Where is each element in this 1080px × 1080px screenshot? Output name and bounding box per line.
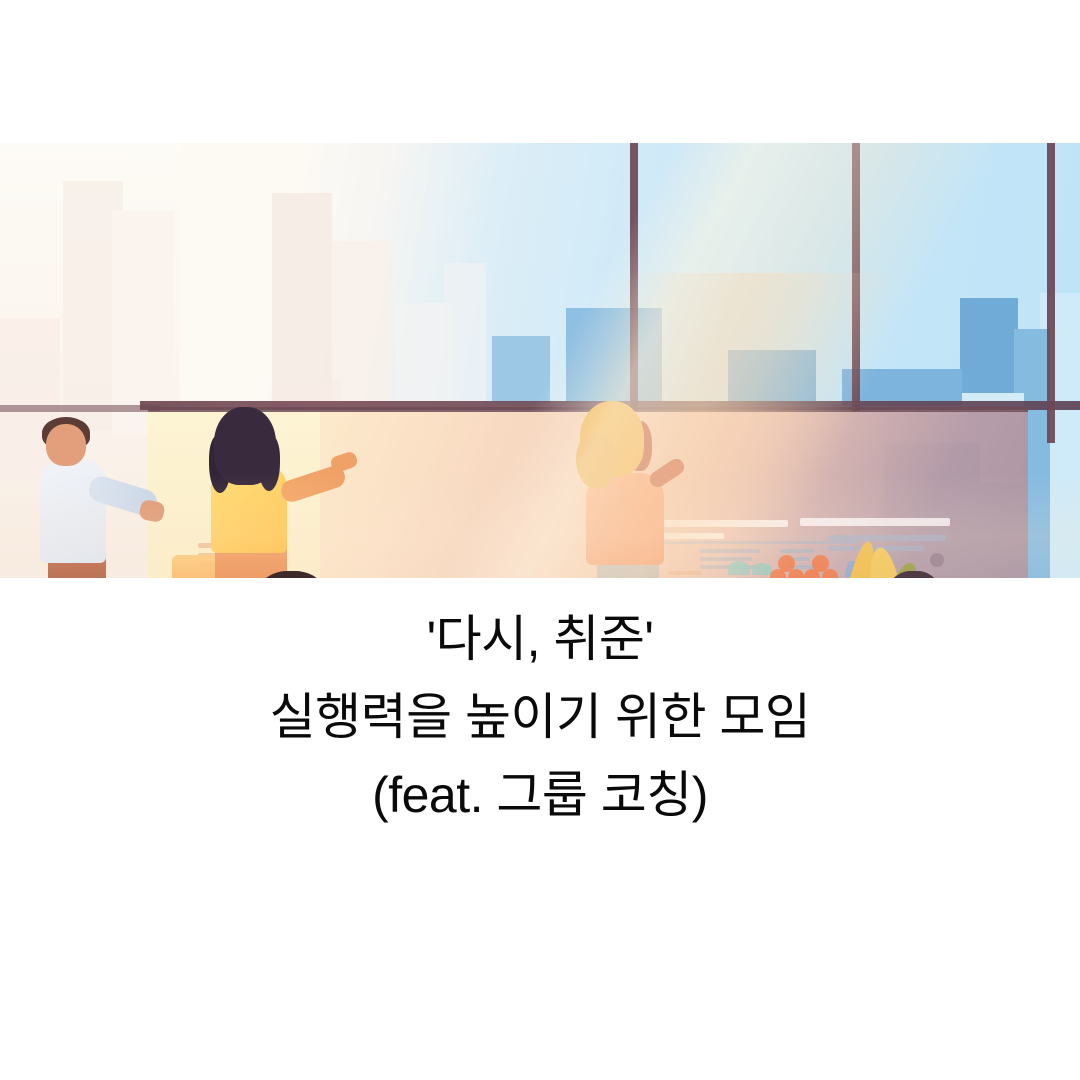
- caption-line-3: (feat. 그룹 코칭): [0, 756, 1080, 834]
- standing-man-torso: [40, 459, 106, 563]
- caption-line-2: 실행력을 높이기 위한 모임: [0, 678, 1080, 756]
- caption-line-1: '다시, 취준': [0, 600, 1080, 678]
- standing-woman-hair: [214, 407, 276, 485]
- promo-card: '다시, 취준' 실행력을 높이기 위한 모임 (feat. 그룹 코칭): [0, 0, 1080, 1080]
- window-mullion-horizontal: [0, 405, 160, 412]
- sunbeam-overlay: [380, 273, 1080, 578]
- standing-man-head: [46, 424, 86, 466]
- hero-illustration: [0, 143, 1080, 578]
- caption-block: '다시, 취준' 실행력을 높이기 위한 모임 (feat. 그룹 코칭): [0, 600, 1080, 834]
